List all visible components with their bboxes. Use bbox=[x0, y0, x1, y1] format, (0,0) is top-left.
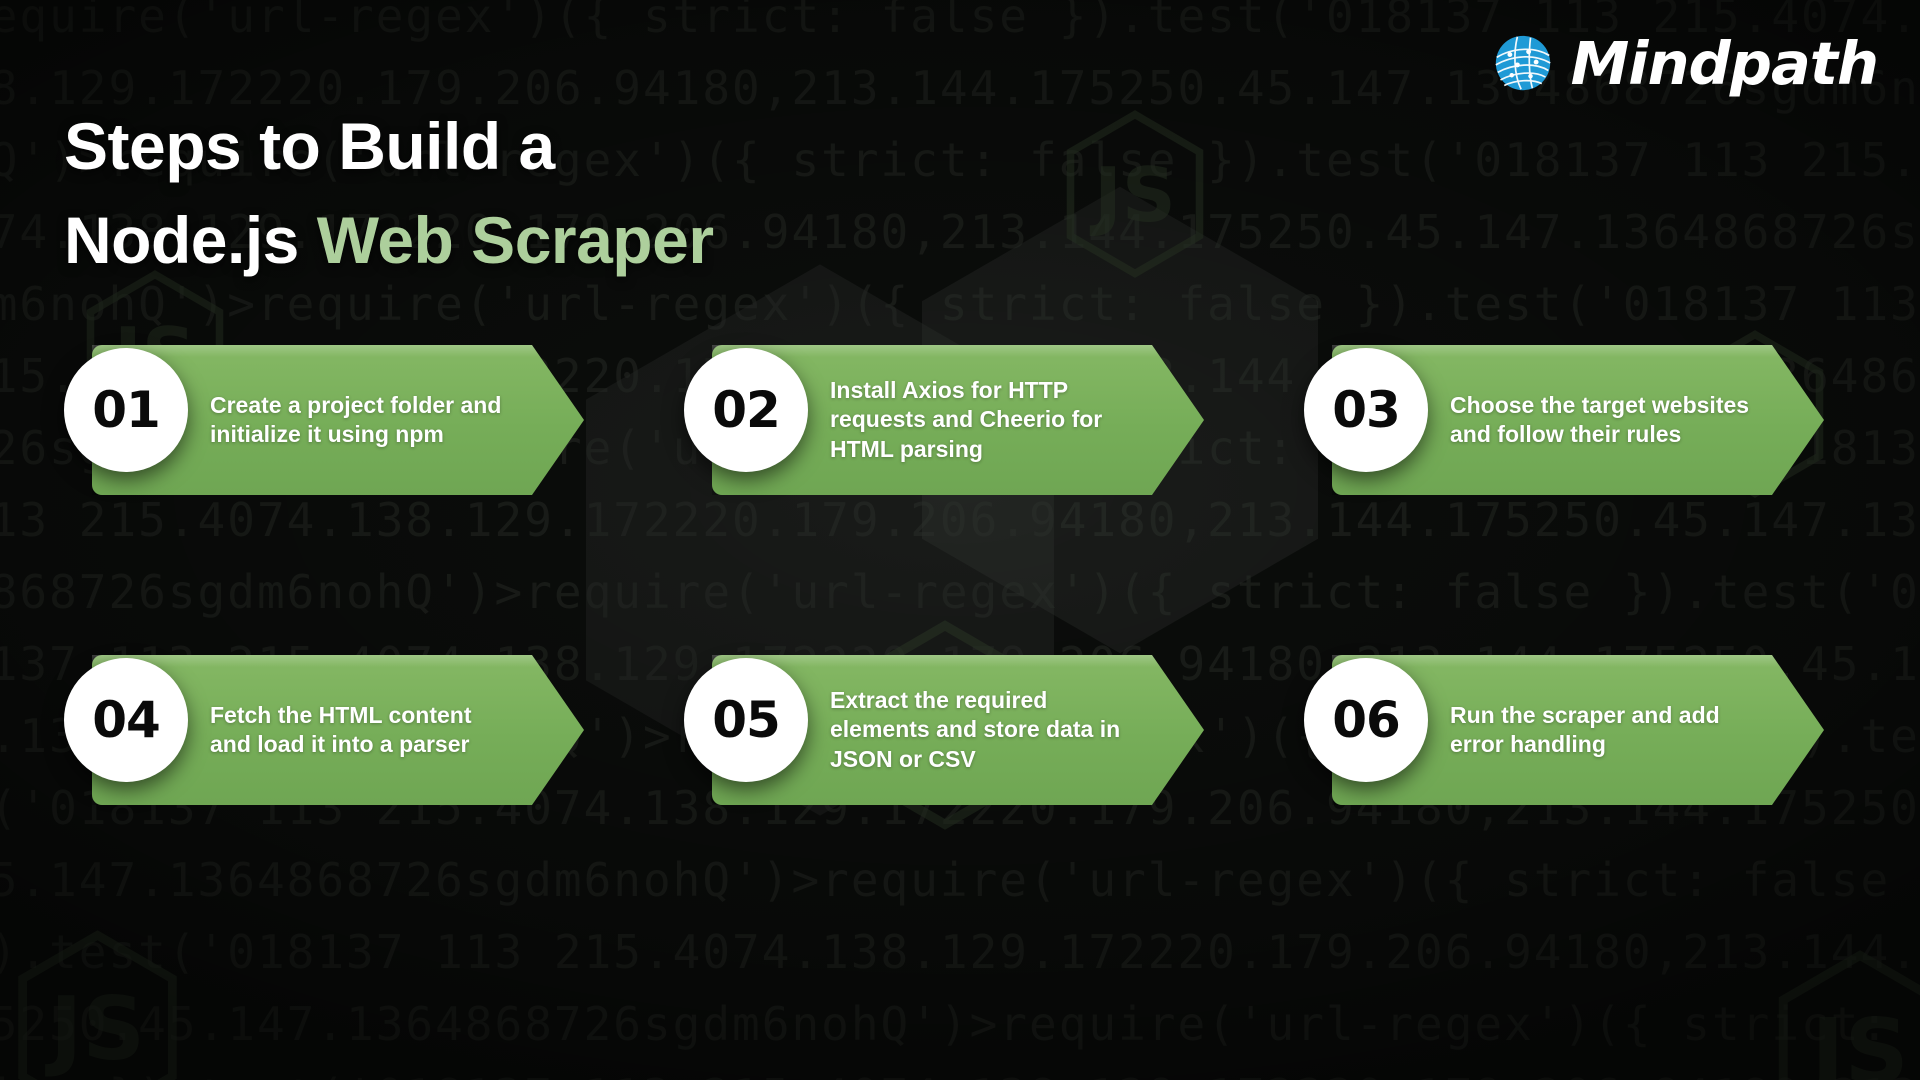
step-number-badge: 01 bbox=[64, 348, 188, 472]
nodejs-hexagon-icon: JS bbox=[10, 930, 185, 1080]
step-number: 05 bbox=[712, 695, 780, 745]
step-description: Choose the target websites and follow th… bbox=[1450, 391, 1750, 450]
steps-grid: 01 Create a project folder and initializ… bbox=[64, 345, 1864, 805]
step-description: Create a project folder and initialize i… bbox=[210, 391, 510, 450]
step-number-badge: 02 bbox=[684, 348, 808, 472]
step-number: 04 bbox=[92, 695, 160, 745]
brand-wordmark: Mindpath bbox=[1571, 34, 1878, 93]
step-card-05[interactable]: 05 Extract the required elements and sto… bbox=[684, 655, 1204, 805]
step-number-badge: 06 bbox=[1304, 658, 1428, 782]
step-number: 01 bbox=[92, 385, 160, 435]
brand-logo[interactable]: Mindpath bbox=[1493, 33, 1878, 93]
page-title-line-1: Steps to Build a bbox=[64, 100, 714, 194]
step-number: 02 bbox=[712, 385, 780, 435]
step-description: Install Axios for HTTP requests and Chee… bbox=[830, 376, 1130, 464]
svg-text:JS: JS bbox=[1089, 151, 1176, 239]
step-description: Fetch the HTML content and load it into … bbox=[210, 701, 510, 760]
step-number: 06 bbox=[1332, 695, 1400, 745]
globe-network-icon bbox=[1493, 33, 1553, 93]
step-card-03[interactable]: 03 Choose the target websites and follow… bbox=[1304, 345, 1824, 495]
nodejs-hexagon-icon: JS bbox=[1770, 950, 1920, 1080]
step-number-badge: 03 bbox=[1304, 348, 1428, 472]
page-title: Steps to Build a Node.js Web Scraper bbox=[64, 100, 714, 287]
svg-text:JS: JS bbox=[45, 978, 145, 1080]
step-card-01[interactable]: 01 Create a project folder and initializ… bbox=[64, 345, 584, 495]
page-title-line-2-accent: Web Scraper bbox=[317, 203, 714, 277]
step-description: Run the scraper and add error handling bbox=[1450, 701, 1750, 760]
page-title-line-2-plain: Node.js bbox=[64, 203, 317, 277]
page-title-line-2: Node.js Web Scraper bbox=[64, 194, 714, 288]
step-number: 03 bbox=[1332, 385, 1400, 435]
step-card-06[interactable]: 06 Run the scraper and add error handlin… bbox=[1304, 655, 1824, 805]
step-description: Extract the required elements and store … bbox=[830, 686, 1130, 774]
step-number-badge: 04 bbox=[64, 658, 188, 782]
svg-text:JS: JS bbox=[1805, 1000, 1909, 1080]
step-card-04[interactable]: 04 Fetch the HTML content and load it in… bbox=[64, 655, 584, 805]
nodejs-hexagon-icon: JS bbox=[1060, 110, 1210, 278]
step-card-02[interactable]: 02 Install Axios for HTTP requests and C… bbox=[684, 345, 1204, 495]
step-number-badge: 05 bbox=[684, 658, 808, 782]
